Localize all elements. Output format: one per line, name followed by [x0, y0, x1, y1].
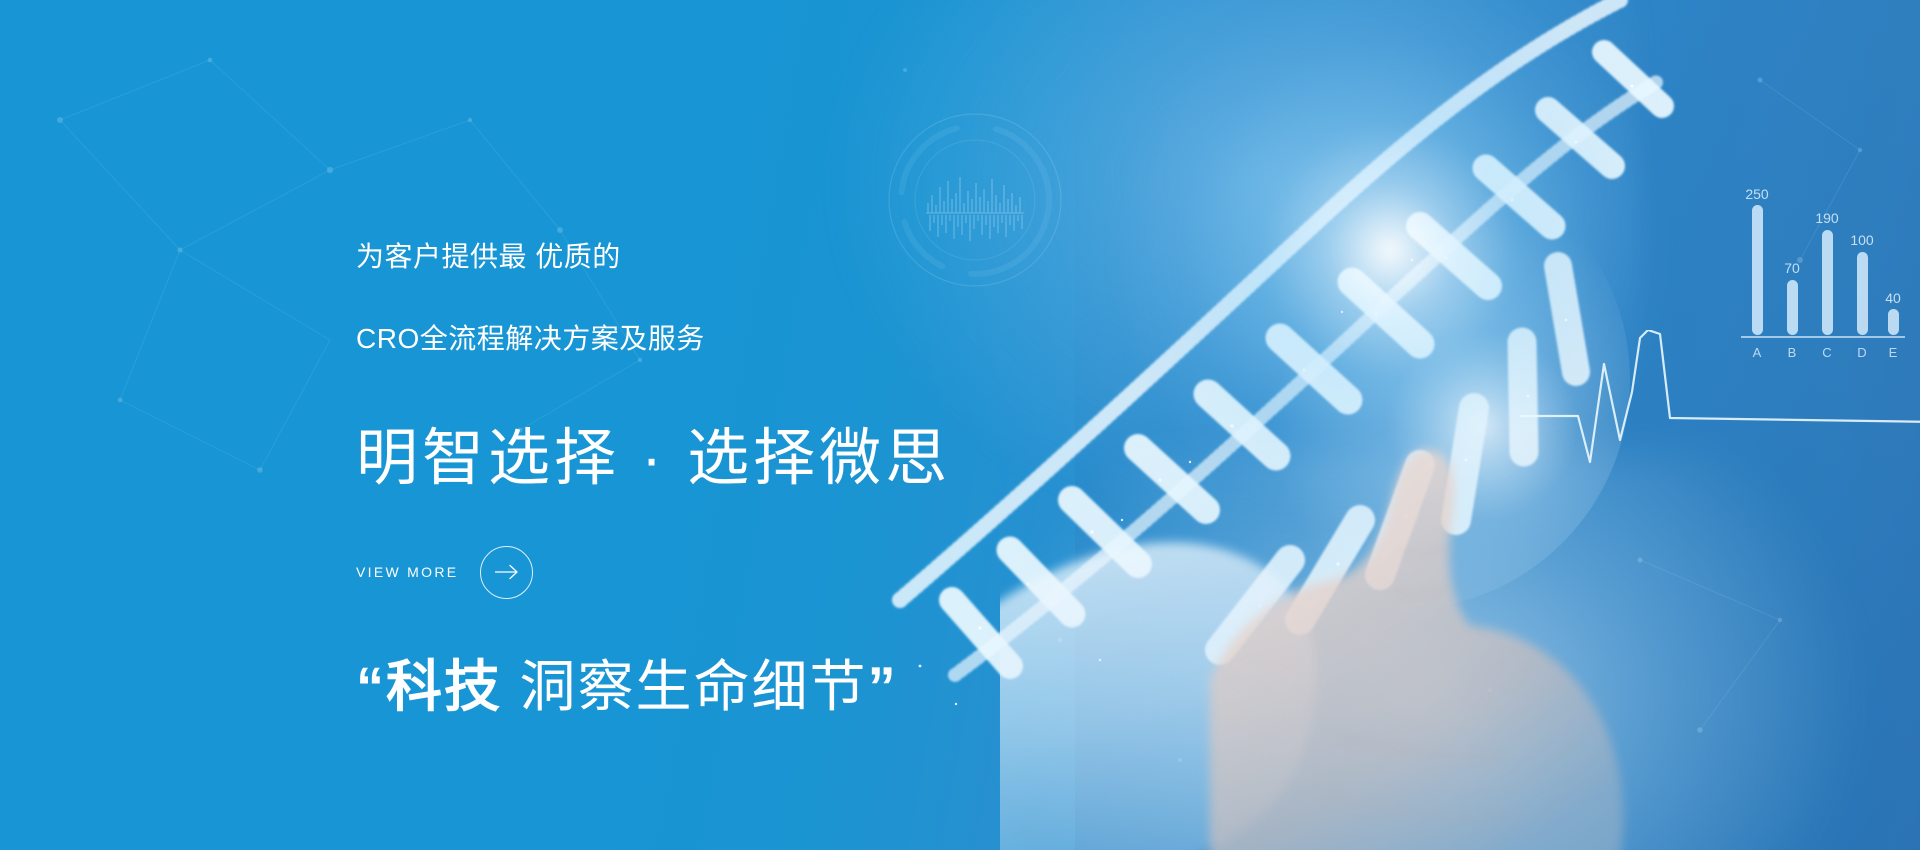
quote-strong-text: 科技: [386, 655, 502, 718]
bar-value-d: 100: [1850, 232, 1874, 248]
bar-label-b: B: [1788, 345, 1797, 360]
hero-headline: 明智选择 · 选择微思: [356, 424, 1116, 493]
hero-subtitle-line-1: 为客户提供最 优质的: [356, 237, 1116, 278]
arrow-right-icon[interactable]: [480, 546, 533, 599]
bar-label-e: E: [1889, 345, 1898, 360]
view-more-label: VIEW MORE: [356, 564, 458, 580]
bar-value-b: 70: [1784, 260, 1800, 276]
quote-close-mark: ”: [868, 655, 898, 718]
quote-light-text: 洞察生命细节: [502, 655, 868, 718]
bar-label-c: C: [1822, 345, 1831, 360]
bar-label-d: D: [1857, 345, 1866, 360]
bar-chart-decoration: 250 70 190 100 40 A B C D E: [1735, 185, 1905, 375]
hero-subtitle: 为客户提供最 优质的 CRO全流程解决方案及服务: [356, 196, 1116, 400]
view-more-button[interactable]: VIEW MORE: [356, 546, 534, 599]
hero-quote: “科技 洞察生命细节”: [356, 655, 1116, 719]
quote-open-mark: “: [356, 655, 386, 718]
hero-copy: 为客户提供最 优质的 CRO全流程解决方案及服务 明智选择 · 选择微思 VIE…: [356, 196, 1116, 719]
bar-label-a: A: [1753, 345, 1762, 360]
bar-value-a: 250: [1745, 186, 1769, 202]
hero-subtitle-line-2: CRO全流程解决方案及服务: [356, 319, 1116, 360]
hero-banner: 250 70 190 100 40 A B C D E: [0, 0, 1920, 850]
bar-value-c: 190: [1815, 210, 1839, 226]
bar-value-e: 40: [1885, 290, 1901, 306]
